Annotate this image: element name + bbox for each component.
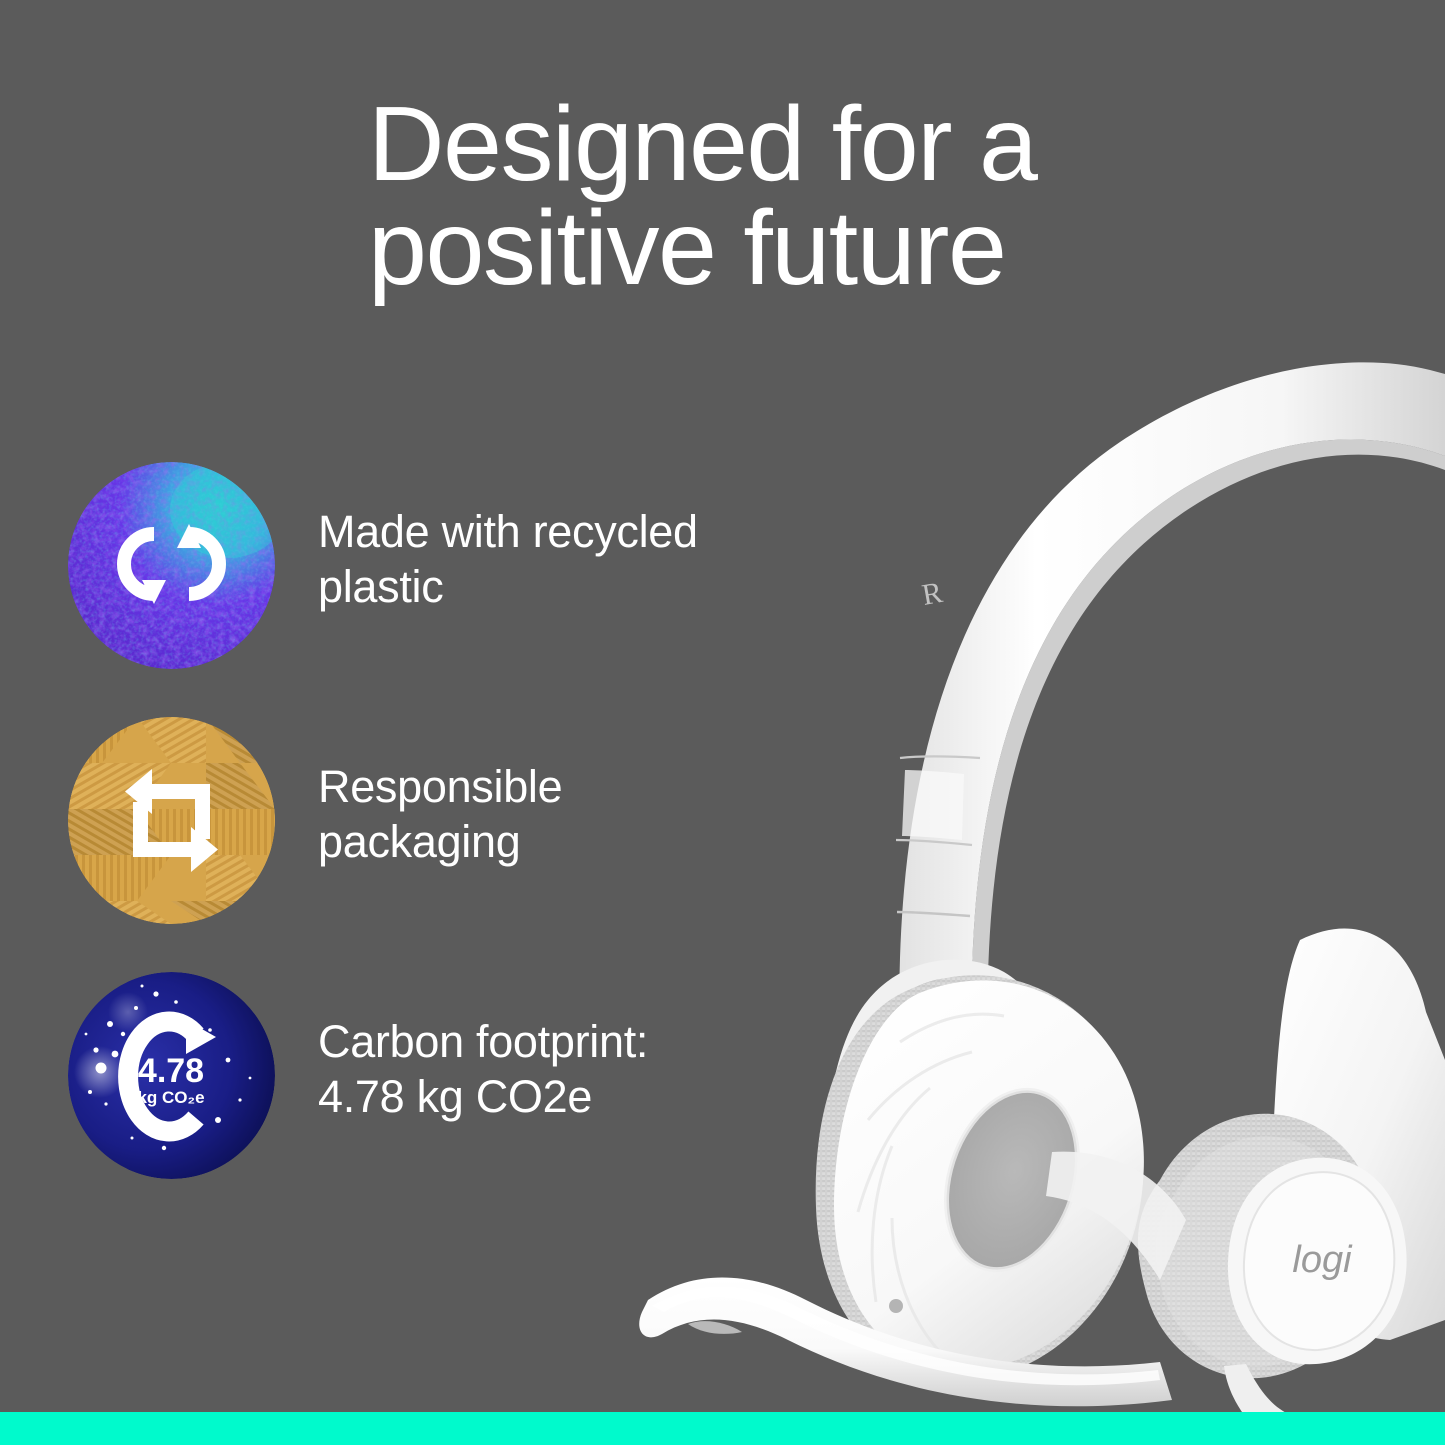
- carbon-footprint-icon: 4.78 kg CO₂e: [68, 972, 275, 1179]
- page-title: Designed for a positive future: [368, 92, 1128, 300]
- headband-marking-R: R: [919, 576, 944, 612]
- feature-label-responsible-packaging: Responsible packaging: [318, 759, 562, 869]
- carbon-value-text: 4.78: [138, 1052, 204, 1090]
- feature-label-carbon-footprint: Carbon footprint: 4.78 kg CO2e: [318, 1014, 648, 1124]
- product-image-headset: R: [600, 300, 1445, 1415]
- bottom-accent-bar: [0, 1412, 1445, 1445]
- responsible-packaging-icon: [68, 717, 275, 924]
- logi-brand-logo: logi: [1292, 1239, 1353, 1281]
- promo-banner: Designed for a positive future: [0, 0, 1445, 1445]
- carbon-unit-text: kg CO₂e: [137, 1088, 204, 1107]
- recycled-plastic-icon: [68, 462, 275, 669]
